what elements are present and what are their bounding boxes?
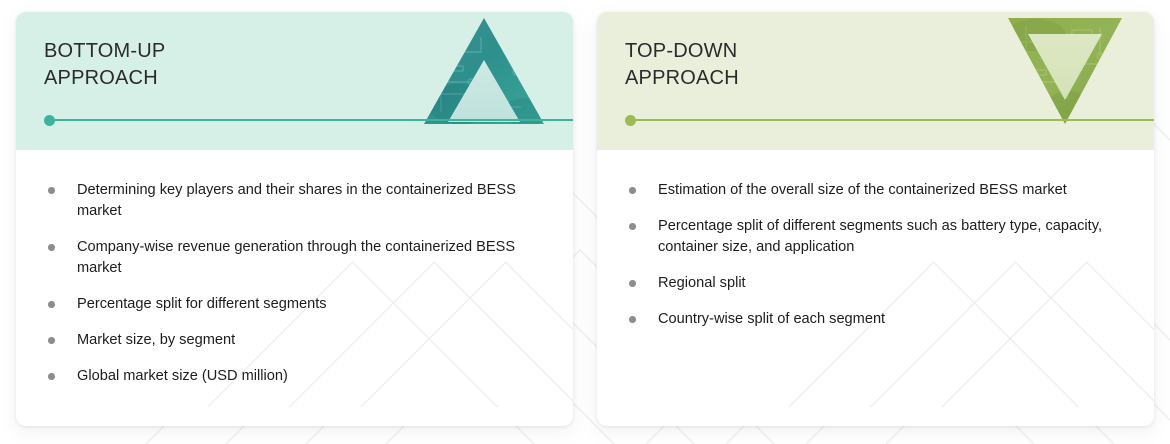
accent-rule-top-down [625, 114, 1154, 126]
card-top-down: TOP-DOWN APPROACH [597, 12, 1154, 426]
page-title-bottom-up: BOTTOM-UP APPROACH [44, 38, 573, 92]
accent-line [636, 119, 1154, 121]
list-item: Global market size (USD million) [46, 366, 543, 387]
card-body-bottom-up: Determining key players and their shares… [16, 150, 573, 426]
card-header-top-down: TOP-DOWN APPROACH [597, 12, 1154, 150]
list-item: Percentage split of different segments s… [627, 216, 1124, 258]
bullet-list-bottom-up: Determining key players and their shares… [46, 180, 543, 387]
approach-cards-container: BOTTOM-UP APPROACH [0, 0, 1170, 444]
list-item: Percentage split for different segments [46, 294, 543, 315]
accent-rule-bottom-up [44, 114, 573, 126]
list-item: Determining key players and their shares… [46, 180, 543, 222]
list-item: Company-wise revenue generation through … [46, 237, 543, 279]
page-title-top-down: TOP-DOWN APPROACH [625, 38, 1154, 92]
accent-line [55, 119, 573, 121]
list-item: Market size, by segment [46, 330, 543, 351]
card-bottom-up: BOTTOM-UP APPROACH [16, 12, 573, 426]
list-item: Country-wise split of each segment [627, 309, 1124, 330]
list-item: Regional split [627, 273, 1124, 294]
accent-dot-icon [44, 115, 55, 126]
card-body-top-down: Estimation of the overall size of the co… [597, 150, 1154, 426]
accent-dot-icon [625, 115, 636, 126]
bullet-list-top-down: Estimation of the overall size of the co… [627, 180, 1124, 330]
card-header-bottom-up: BOTTOM-UP APPROACH [16, 12, 573, 150]
list-item: Estimation of the overall size of the co… [627, 180, 1124, 201]
